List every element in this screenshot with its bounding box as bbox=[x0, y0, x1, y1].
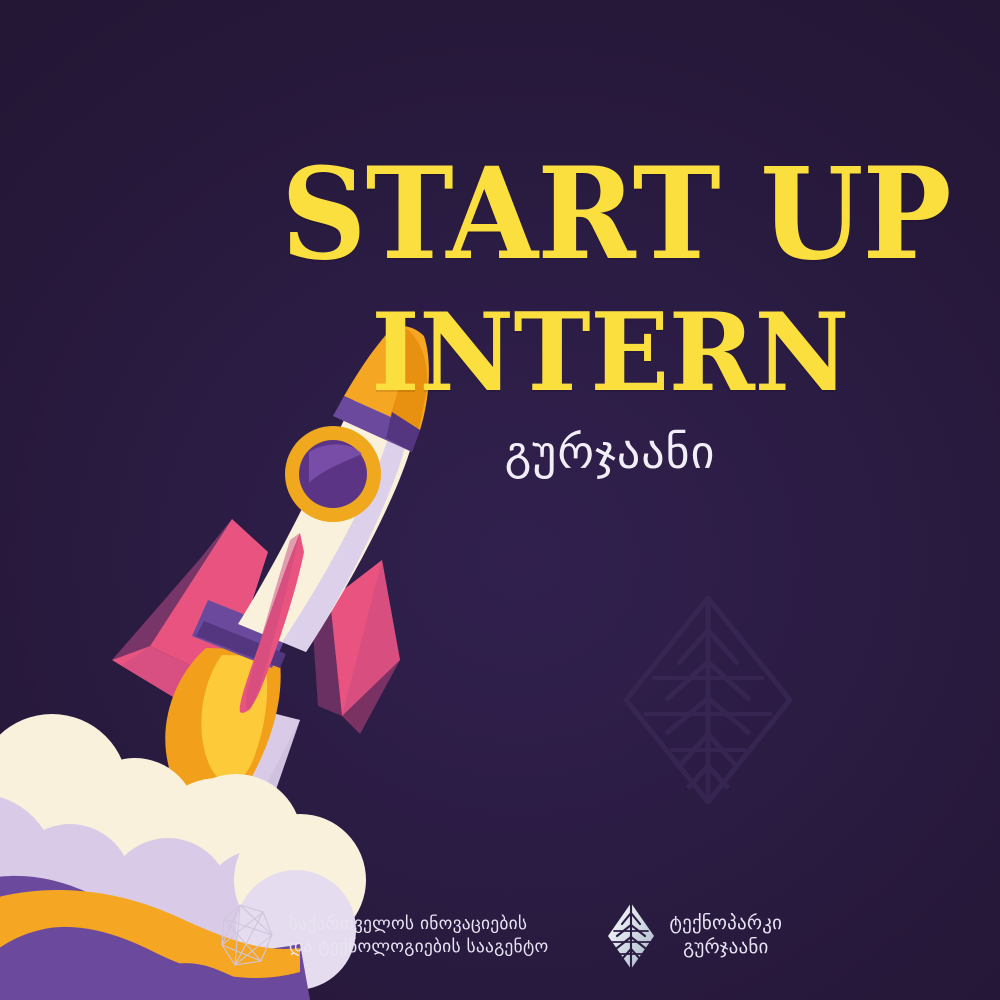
logo-technopark-line1: ტექნოპარკი bbox=[669, 912, 782, 934]
logo-technopark-line2: გურჯაანი bbox=[669, 936, 782, 959]
diamond-tree-icon bbox=[606, 901, 656, 971]
logo-technopark: ტექნოპარკი გურჯაანი bbox=[606, 889, 782, 982]
poster-canvas: START UP INTERN გურჯაანი საქართველოს ინო… bbox=[0, 0, 1000, 1000]
crystal-polygon-icon bbox=[218, 901, 276, 971]
page-title-start-up: START UP bbox=[281, 155, 939, 273]
logo-gita: საქართველოს ინოვაციების და ტექნოლოგიების… bbox=[218, 889, 549, 981]
logo-gita-line2: და ტექნოლოგიების სააგენტო bbox=[289, 936, 549, 959]
page-subtitle-location: გურჯაანი bbox=[260, 425, 960, 479]
page-title-intern: INTERN bbox=[274, 299, 946, 407]
footer-logo-bar: საქართველოს ინოვაციების და ტექნოლოგიების… bbox=[0, 889, 1000, 982]
logo-gita-text: საქართველოს ინოვაციების და ტექნოლოგიების… bbox=[289, 889, 549, 981]
logo-gita-line1: საქართველოს ინოვაციების bbox=[289, 914, 527, 934]
logo-technopark-text: ტექნოპარკი გურჯაანი bbox=[669, 889, 782, 982]
headline-block: START UP INTERN გურჯაანი bbox=[260, 155, 960, 479]
